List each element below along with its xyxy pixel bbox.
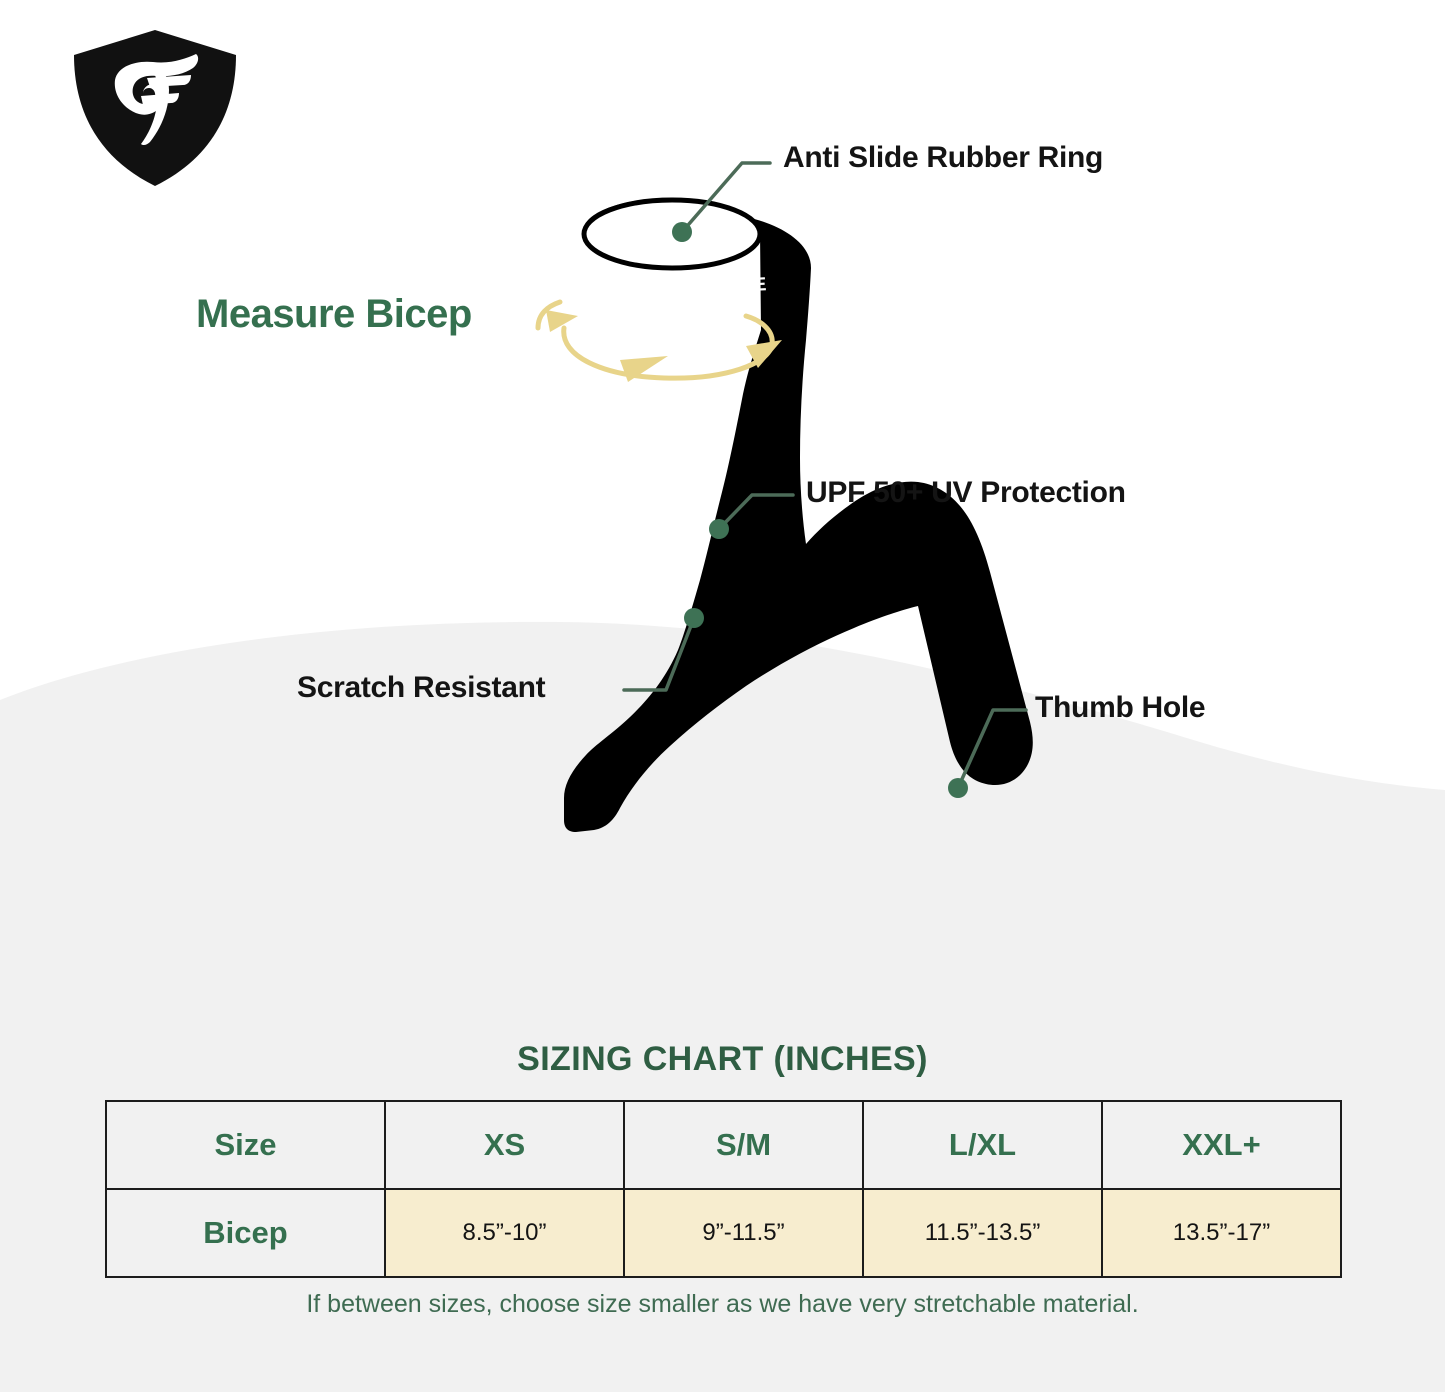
callout-label-thumb-hole: Thumb Hole <box>1035 691 1205 725</box>
sizing-chart-title: SIZING CHART (INCHES) <box>0 1040 1445 1079</box>
table-header-row: Size XS S/M L/XL XXL+ <box>106 1101 1341 1189</box>
table-cell-bicep-lxl: 11.5”-13.5” <box>863 1189 1102 1277</box>
svg-text:DEFENSE: DEFENSE <box>661 274 769 301</box>
sizing-footnote: If between sizes, choose size smaller as… <box>0 1290 1445 1319</box>
callout-label-upf-protection: UPF 50+ UV Protection <box>806 476 1126 510</box>
table-cell-bicep-xs: 8.5”-10” <box>385 1189 624 1277</box>
shield-logo-icon <box>55 18 255 198</box>
callout-label-anti-slide-rubber-ring: Anti Slide Rubber Ring <box>783 141 1103 175</box>
sleeve-cuff-opening <box>584 200 760 268</box>
table-header-lxl: L/XL <box>863 1101 1102 1189</box>
measure-arrowheads <box>546 310 782 382</box>
table-cell-bicep-xxl: 13.5”-17” <box>1102 1189 1341 1277</box>
table-header-xxl: XXL+ <box>1102 1101 1341 1189</box>
table-header-size: Size <box>106 1101 385 1189</box>
table-header-sm: S/M <box>624 1101 863 1189</box>
table-cell-bicep-sm: 9”-11.5” <box>624 1189 863 1277</box>
measure-bicep-label: Measure Bicep <box>196 292 472 337</box>
arm-sleeve-illustration: Farmers DEFENSE <box>520 180 1080 940</box>
callout-label-scratch-resistant: Scratch Resistant <box>297 671 545 705</box>
table-row: Bicep 8.5”-10” 9”-11.5” 11.5”-13.5” 13.5… <box>106 1189 1341 1277</box>
circular-measure-arrow-icon <box>538 302 772 378</box>
table-header-xs: XS <box>385 1101 624 1189</box>
table-row-label-bicep: Bicep <box>106 1189 385 1277</box>
sizing-chart-table: Size XS S/M L/XL XXL+ Bicep 8.5”-10” 9”-… <box>105 1100 1342 1278</box>
svg-text:Farmers: Farmers <box>540 266 649 305</box>
infographic-root: Farmers DEFENSE <box>0 0 1445 1392</box>
